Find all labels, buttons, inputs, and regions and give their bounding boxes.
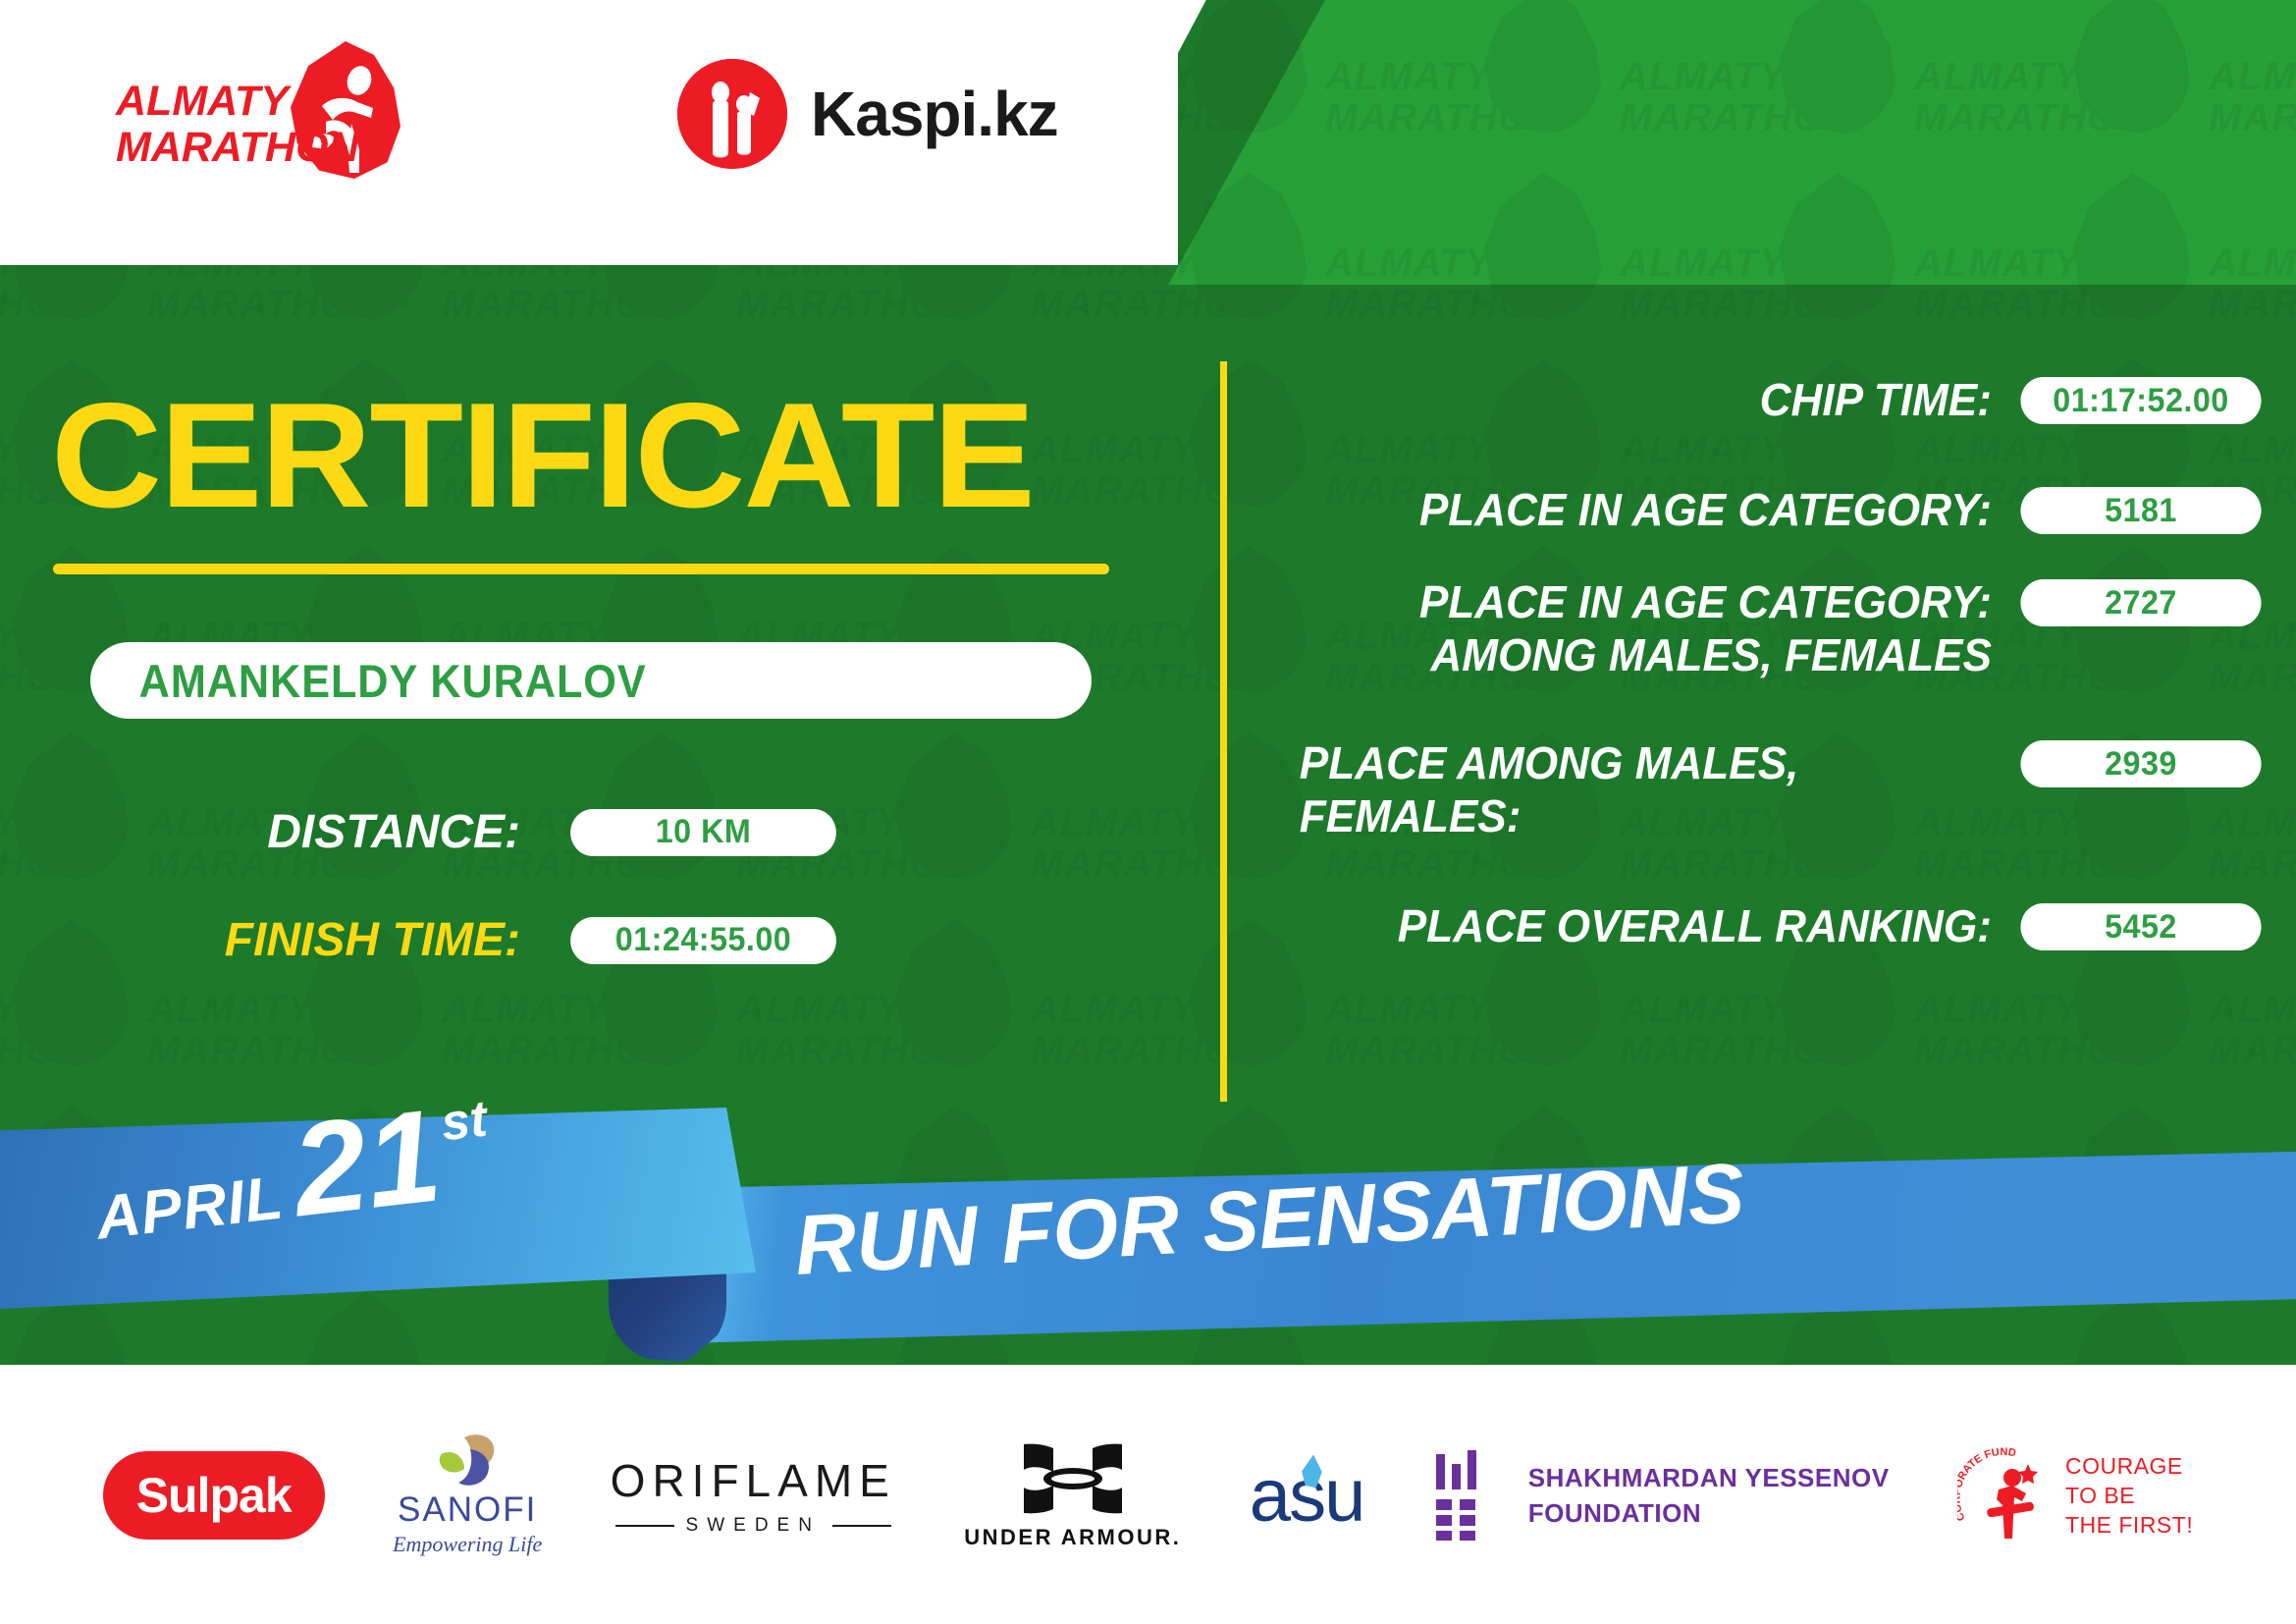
place-age-category-gender-label-line1: PLACE IN AGE CATEGORY: xyxy=(1277,575,1992,628)
courage-fund-icon: CORPORATE FUND xyxy=(1957,1444,2052,1546)
almaty-marathon-logo: ALMATY MARATHON xyxy=(116,41,410,179)
oriflame-rule-left xyxy=(615,1525,674,1527)
stat-row-place-among-gender: PLACE AMONG MALES, FEMALES: 2939 xyxy=(1247,736,2268,842)
stat-row-place-overall: PLACE OVERALL RANKING: 5452 xyxy=(1247,899,2268,952)
event-ribbon: APRIL 21 st RUN FOR SENSATIONS xyxy=(0,1080,2296,1375)
sponsor-sanofi: SANOFI Empowering Life xyxy=(393,1422,542,1569)
sanofi-mark-icon xyxy=(435,1434,500,1489)
watermark-text-line1: ALMATY xyxy=(1325,242,1492,286)
place-overall-value: 5452 xyxy=(2020,903,2261,950)
ribbon-fold xyxy=(609,1272,726,1363)
sponsor-asu: asu xyxy=(1250,1422,1364,1569)
watermark-text-line2: MARATHON xyxy=(2209,96,2296,140)
watermark-tile: ALMATYMARATHON xyxy=(1914,0,2209,167)
place-age-category-gender-value: 2727 xyxy=(2020,579,2261,626)
place-among-gender-label: PLACE AMONG MALES, FEMALES: xyxy=(1247,736,1984,842)
distance-row: DISTANCE: 10 KM xyxy=(187,805,923,859)
watermark-tile: ALMATYMARATHON xyxy=(2209,0,2296,167)
place-age-category-label: PLACE IN AGE CATEGORY: xyxy=(1277,483,2014,536)
page-title: CERTIFICATE xyxy=(51,381,1034,530)
runner-name-value: AMANKELDY KURALOV xyxy=(90,654,647,708)
place-among-gender-value: 2939 xyxy=(2020,740,2261,787)
sponsor-bar: Sulpak SANOFI Empowering Life ORIFLAME xyxy=(0,1367,2296,1624)
watermark-text-line1: ALMATY xyxy=(1620,242,1787,286)
header-logos: ALMATY MARATHON Kaspi.kz xyxy=(0,0,1178,265)
watermark-text-line1: ALMATY xyxy=(1325,55,1492,99)
under-armour-icon xyxy=(1014,1440,1132,1517)
under-armour-wordmark: UNDER ARMOUR. xyxy=(964,1525,1181,1550)
place-among-gender-label-line1: PLACE AMONG MALES, xyxy=(1300,736,1984,789)
kaspi-wordmark: Kaspi.kz xyxy=(811,78,1058,150)
stat-row-chip-time: CHIP TIME: 01:17:52.00 xyxy=(1247,373,2268,426)
sponsor-yessenov: SHAKHMARDAN YESSENOV FOUNDATION xyxy=(1432,1422,1890,1569)
sponsor-under-armour: UNDER ARMOUR. xyxy=(964,1422,1181,1569)
column-divider xyxy=(1220,361,1227,1102)
watermark-droplet-icon xyxy=(1779,0,1896,134)
sponsor-courage-fund: CORPORATE FUND COURAGE TO BE THE FIRST! xyxy=(1957,1422,2193,1569)
kaspi-logo: Kaspi.kz xyxy=(677,59,1058,169)
distance-label: DISTANCE: xyxy=(187,805,520,859)
event-day: 21 xyxy=(288,1102,446,1225)
place-age-category-value: 5181 xyxy=(2020,487,2261,534)
oriflame-subtitle: SWEDEN xyxy=(686,1515,821,1537)
watermark-text-line1: ALMATY xyxy=(2209,55,2296,99)
watermark-tile: ALMATYMARATHON xyxy=(1325,0,1620,167)
place-among-gender-label-line2: FEMALES: xyxy=(1300,789,1984,842)
yessenov-mark-icon xyxy=(1432,1450,1503,1541)
watermark-text-line2: MARATHON xyxy=(1620,96,1853,140)
marathon-wordmark-line2: MARATHON xyxy=(116,125,302,171)
sponsor-sulpak: Sulpak xyxy=(103,1422,325,1569)
sanofi-tagline: Empowering Life xyxy=(393,1532,542,1557)
stat-row-place-age-category: PLACE IN AGE CATEGORY: 5181 xyxy=(1247,483,2268,536)
watermark-text-line1: ALMATY xyxy=(1914,55,2081,99)
watermark-tile: ALMATYMARATHON xyxy=(1620,0,1914,167)
finish-time-value: 01:24:55.00 xyxy=(570,917,836,964)
watermark-text-line1: ALMATY xyxy=(1620,55,1787,99)
chip-time-label: CHIP TIME: xyxy=(1277,373,2014,426)
distance-value: 10 KM xyxy=(570,809,836,856)
asu-wordmark: asu xyxy=(1250,1453,1364,1539)
place-age-category-gender-label: PLACE IN AGE CATEGORY: AMONG MALES, FEMA… xyxy=(1277,575,2014,681)
stats-list: CHIP TIME: 01:17:52.00 PLACE IN AGE CATE… xyxy=(1247,373,2268,992)
runner-name-field: AMANKELDY KURALOV xyxy=(90,642,1092,719)
place-overall-label: PLACE OVERALL RANKING: xyxy=(1277,899,2014,952)
yessenov-wordmark-line2: FOUNDATION xyxy=(1528,1495,1890,1531)
finish-time-row: FINISH TIME: 01:24:55.00 xyxy=(128,913,923,967)
sponsor-oriflame: ORIFLAME SWEDEN xyxy=(611,1422,896,1569)
place-age-category-gender-label-line2: AMONG MALES, FEMALES xyxy=(1277,628,1992,681)
certificate-canvas: ALMATYMARATHONALMATYMARATHONALMATYMARATH… xyxy=(0,0,2296,1624)
finish-time-label: FINISH TIME: xyxy=(128,913,520,967)
kaspi-people-icon xyxy=(677,59,787,169)
courage-fund-line1: COURAGE xyxy=(2065,1451,2193,1481)
title-divider xyxy=(53,564,1109,574)
stat-row-place-age-category-gender: PLACE IN AGE CATEGORY: AMONG MALES, FEMA… xyxy=(1247,575,2268,681)
watermark-droplet-icon xyxy=(1484,0,1602,134)
yessenov-wordmark-line1: SHAKHMARDAN YESSENOV xyxy=(1528,1460,1890,1495)
courage-fund-line3: THE FIRST! xyxy=(2065,1510,2193,1540)
watermark-text-line2: MARATHON xyxy=(1325,96,1559,140)
oriflame-wordmark: ORIFLAME xyxy=(611,1454,896,1507)
sanofi-wordmark: SANOFI xyxy=(398,1490,537,1530)
watermark-text-line2: MARATHON xyxy=(1914,96,2148,140)
marathon-wordmark-line1: ALMATY xyxy=(116,79,302,125)
watermark-text-line1: ALMATY xyxy=(2209,242,2296,286)
sulpak-wordmark: Sulpak xyxy=(103,1451,325,1540)
watermark-text-line1: ALMATY xyxy=(1914,242,2081,286)
oriflame-rule-right xyxy=(832,1525,891,1527)
event-day-suffix: st xyxy=(438,1089,490,1153)
watermark-droplet-icon xyxy=(2073,0,2191,134)
courage-fund-line2: TO BE xyxy=(2065,1481,2193,1510)
chip-time-value: 01:17:52.00 xyxy=(2020,377,2261,424)
marathon-wordmark: ALMATY MARATHON xyxy=(116,79,302,171)
